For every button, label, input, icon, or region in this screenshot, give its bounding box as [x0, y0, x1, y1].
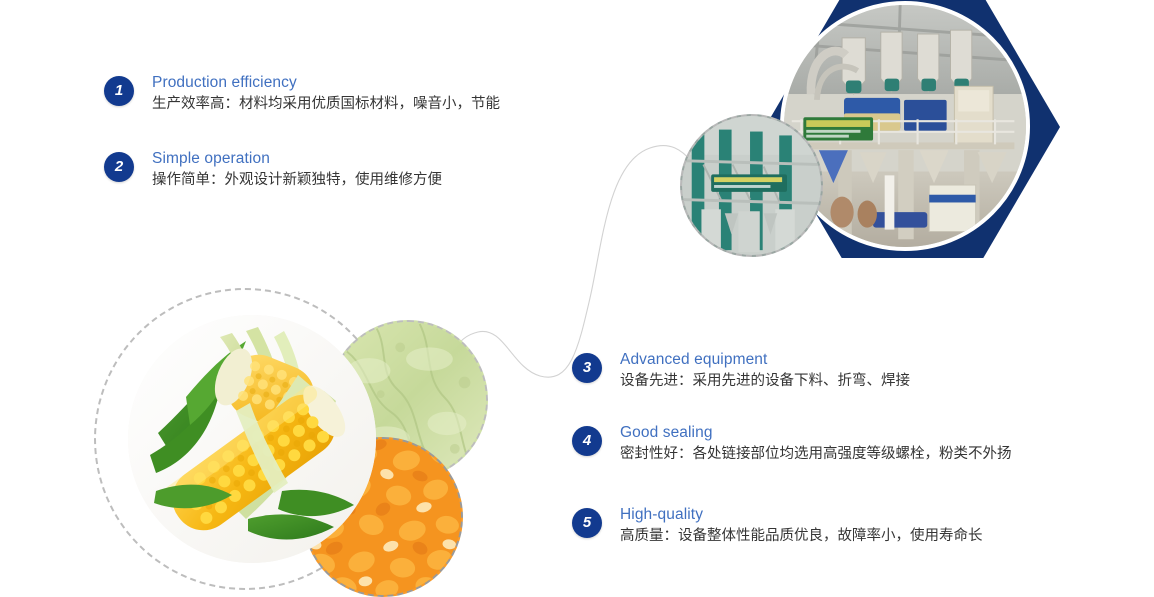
flour-milling-plant-photo	[780, 1, 1030, 251]
feature-title-cn: 生产效率高：材料均采用优质国标材料，噪音小，节能	[152, 94, 500, 115]
feature-title-en: Production efficiency	[152, 73, 500, 93]
feature-number-badge: 4	[572, 426, 602, 456]
feature-number-badge: 5	[572, 508, 602, 538]
feature-text-block: Advanced equipment 设备先进：采用先进的设备下料、折弯、焊接	[620, 350, 910, 392]
feature-title-en: High-quality	[620, 505, 983, 525]
feature-title-cn: 高质量：设备整体性能品质优良，故障率小，使用寿命长	[620, 526, 983, 547]
feature-text-block: Production efficiency 生产效率高：材料均采用优质国标材料，…	[152, 73, 500, 115]
corn-photo-cluster	[88, 282, 488, 591]
feature-title-en: Advanced equipment	[620, 350, 910, 370]
feature-number-badge: 1	[104, 76, 134, 106]
feature-item-2[interactable]: 2 Simple operation 操作简单：外观设计新颖独特，使用维修方便	[104, 152, 442, 191]
feature-title-cn: 设备先进：采用先进的设备下料、折弯、焊接	[620, 371, 910, 392]
feature-text-block: High-quality 高质量：设备整体性能品质优良，故障率小，使用寿命长	[620, 505, 983, 547]
feature-item-3[interactable]: 3 Advanced equipment 设备先进：采用先进的设备下料、折弯、焊…	[572, 353, 910, 392]
teal-milling-equipment-photo	[680, 114, 823, 257]
feature-title-cn: 密封性好：各处链接部位均选用高强度等级螺栓，粉类不外扬	[620, 444, 1012, 465]
feature-text-block: Simple operation 操作简单：外观设计新颖独特，使用维修方便	[152, 149, 442, 191]
feature-item-1[interactable]: 1 Production efficiency 生产效率高：材料均采用优质国标材…	[104, 76, 500, 115]
feature-title-en: Simple operation	[152, 149, 442, 169]
feature-title-en: Good sealing	[620, 423, 1012, 443]
feature-item-4[interactable]: 4 Good sealing 密封性好：各处链接部位均选用高强度等级螺栓，粉类不…	[572, 426, 1012, 465]
corn-cob-with-husk-photo	[128, 315, 376, 563]
hexagon-photo-cluster	[660, 0, 1154, 286]
infographic-canvas: 1 Production efficiency 生产效率高：材料均采用优质国标材…	[0, 0, 1154, 591]
feature-text-block: Good sealing 密封性好：各处链接部位均选用高强度等级螺栓，粉类不外扬	[620, 423, 1012, 465]
feature-number-badge: 2	[104, 152, 134, 182]
feature-number-badge: 3	[572, 353, 602, 383]
feature-title-cn: 操作简单：外观设计新颖独特，使用维修方便	[152, 170, 442, 191]
feature-item-5[interactable]: 5 High-quality 高质量：设备整体性能品质优良，故障率小，使用寿命长	[572, 508, 983, 547]
